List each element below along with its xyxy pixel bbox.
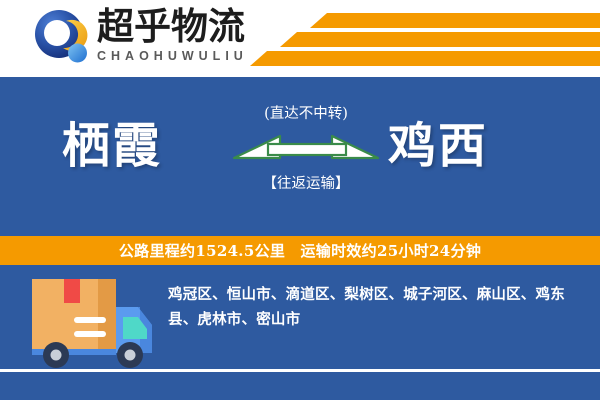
company-logo-icon — [33, 9, 91, 67]
route-section: 栖霞 (直达不中转) 【往返运输】 鸡西 — [0, 77, 600, 236]
brand-name-cn: 超乎物流 — [97, 6, 277, 46]
coverage-districts-text: 鸡冠区、恒山市、滴道区、梨树区、城子河区、麻山区、鸡东县、虎林市、密山市 — [168, 282, 588, 332]
destination-city: 鸡西 — [388, 117, 488, 175]
roundtrip-note: 【往返运输】 — [232, 175, 380, 193]
route-arrow-group: (直达不中转) 【往返运输】 — [232, 95, 380, 220]
road-line — [0, 369, 600, 372]
header-stripe-2 — [280, 32, 600, 47]
origin-city: 栖霞 — [62, 117, 162, 175]
delivery-truck-icon — [26, 273, 158, 373]
header-stripe-1 — [310, 13, 600, 28]
double-headed-arrow-icon — [232, 128, 380, 170]
distance-duration-bar: 公路里程约1524.5公里 运输时效约25小时24分钟 — [0, 236, 600, 265]
coverage-section: 鸡冠区、恒山市、滴道区、梨树区、城子河区、麻山区、鸡东县、虎林市、密山市 — [0, 265, 600, 400]
banner-header: 超乎物流 CHAOHUWULIU — [0, 0, 600, 77]
brand-name-en: CHAOHUWULIU — [97, 49, 277, 63]
header-stripe-3 — [250, 51, 600, 66]
distance-duration-text: 公路里程约1524.5公里 运输时效约25小时24分钟 — [119, 241, 481, 261]
logistics-route-banner: 超乎物流 CHAOHUWULIU 栖霞 (直达不中转) 【往返运输】 鸡西 公路… — [0, 0, 600, 400]
brand-block: 超乎物流 CHAOHUWULIU — [97, 6, 277, 63]
direct-shipping-note: (直达不中转) — [232, 105, 380, 123]
